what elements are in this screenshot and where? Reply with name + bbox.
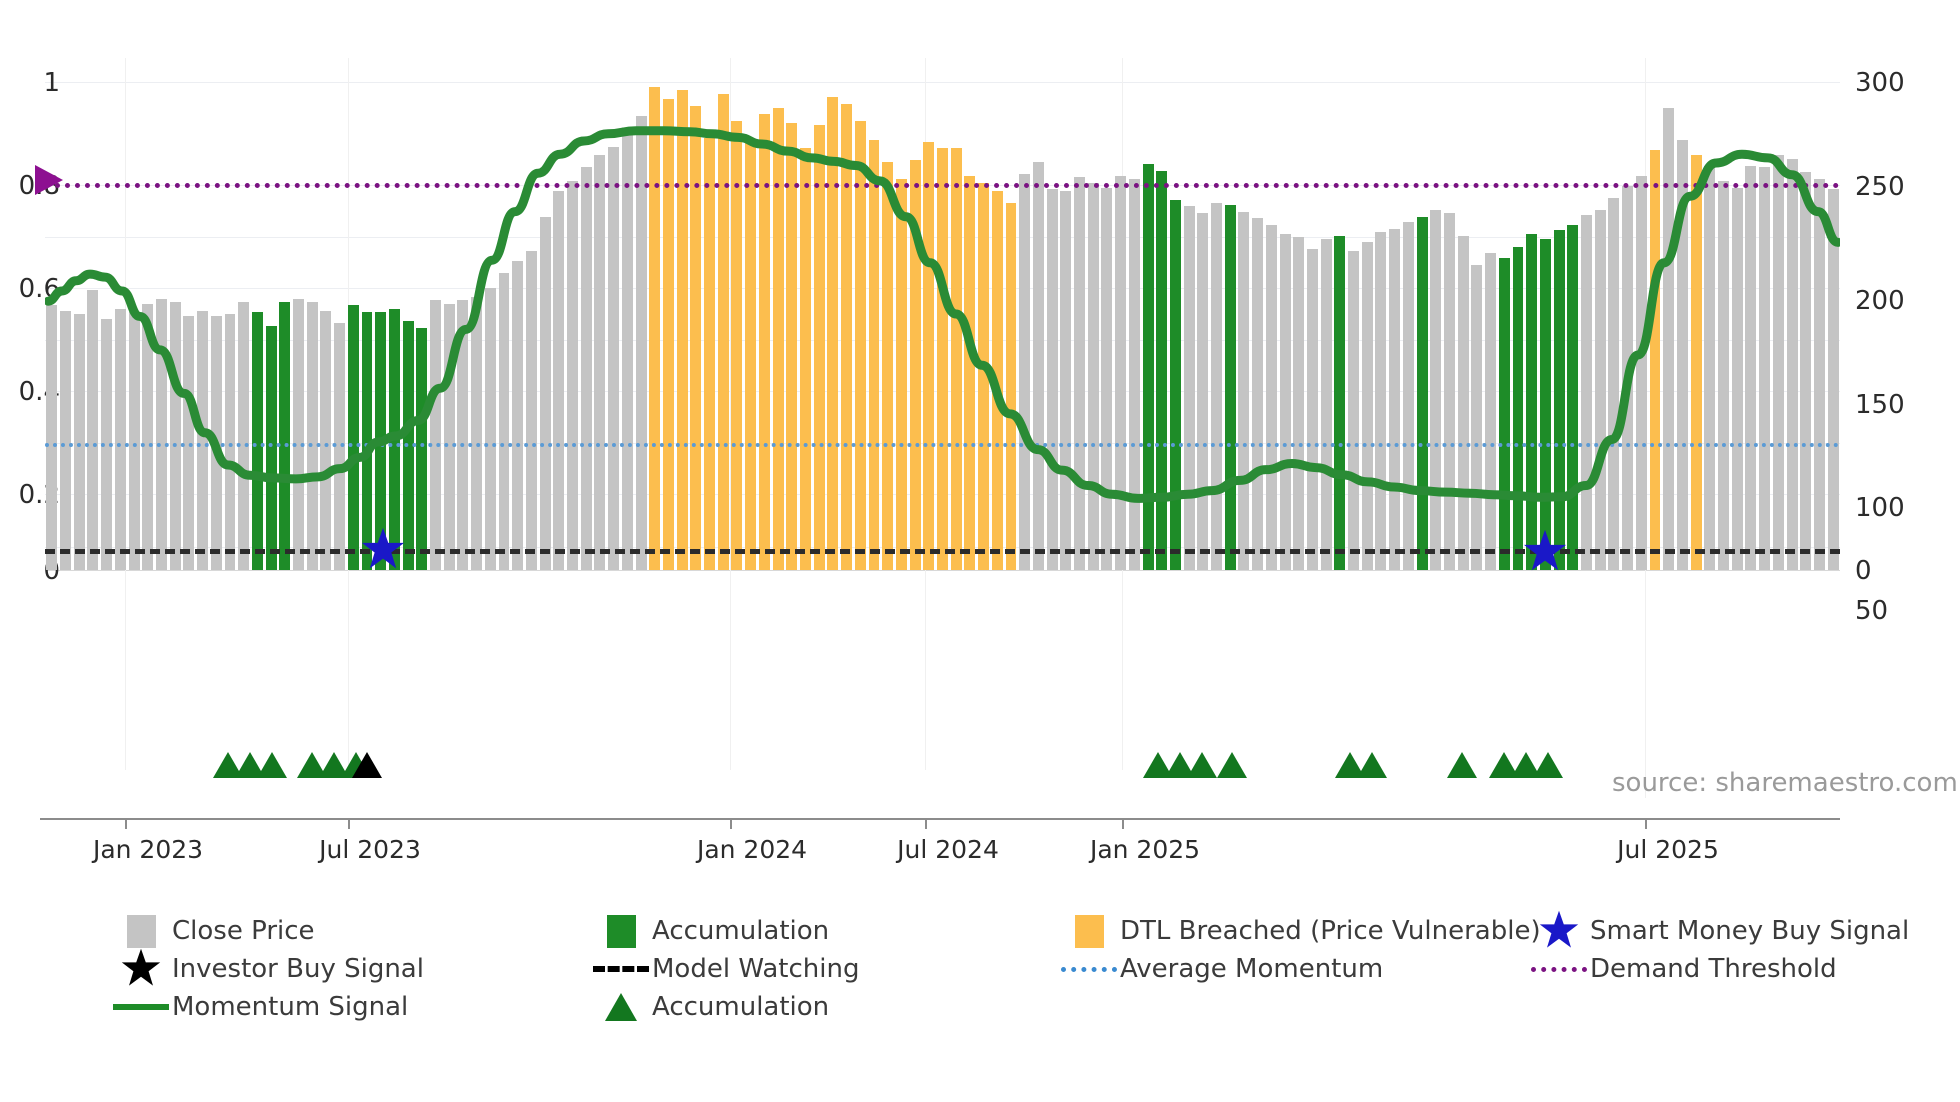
accumulation-triangle-icon	[1447, 752, 1477, 778]
legend-square-icon	[1075, 915, 1104, 948]
x-label-jan2025: Jan 2025	[1090, 835, 1200, 864]
source-note: source: sharemaestro.com	[1612, 768, 1958, 798]
legend-dashed-line-icon	[593, 966, 649, 972]
accumulation-triangle-icon	[1533, 752, 1563, 778]
x-label-jan2024: Jan 2024	[697, 835, 807, 864]
legend-star-icon	[1539, 910, 1579, 952]
legend-item-label: Accumulation	[652, 994, 829, 1020]
legend-item[interactable]: Average Momentum	[1058, 953, 1383, 985]
legend-item[interactable]: Smart Money Buy Signal	[1528, 915, 1909, 947]
legend-item[interactable]: Accumulation	[590, 991, 829, 1023]
legend-star-icon	[121, 948, 161, 990]
legend-item[interactable]: Investor Buy Signal	[110, 953, 424, 985]
x-label-jul2025: Jul 2025	[1617, 835, 1719, 864]
accumulation-triangle-icon	[1187, 752, 1217, 778]
legend-square-icon	[607, 915, 636, 948]
chart-figure: 1 0.8 0.6 0.4 0.2 0 300 250 200 150 100 …	[0, 0, 1960, 1102]
legend-item-label: Model Watching	[652, 956, 859, 982]
x-label-jul2024: Jul 2024	[897, 835, 999, 864]
x-tick-jan2025	[1122, 818, 1124, 829]
x-tick-jan2023	[125, 818, 127, 829]
legend-item[interactable]: Demand Threshold	[1528, 953, 1837, 985]
legend-item[interactable]: Momentum Signal	[110, 991, 408, 1023]
x-axis-line	[40, 818, 1840, 820]
x-tick-jul2023	[348, 818, 350, 829]
x-tick-jan2024	[730, 818, 732, 829]
legend-dotted-line-icon	[1061, 967, 1117, 972]
legend-item[interactable]: Close Price	[110, 915, 315, 947]
legend-triangle-icon	[605, 993, 637, 1021]
investor-buy-signal-triangle-icon	[352, 752, 382, 778]
legend-item[interactable]: Model Watching	[590, 953, 859, 985]
legend-item-label: Demand Threshold	[1590, 956, 1837, 982]
legend-item-label: Accumulation	[652, 918, 829, 944]
legend-item[interactable]: DTL Breached (Price Vulnerable)	[1058, 915, 1541, 947]
legend-item-label: Smart Money Buy Signal	[1590, 918, 1909, 944]
x-label-jul2023: Jul 2023	[319, 835, 421, 864]
demand-threshold-marker-icon	[35, 161, 65, 203]
legend-item-label: Investor Buy Signal	[172, 956, 424, 982]
legend-item-label: Average Momentum	[1120, 956, 1383, 982]
x-tick-jul2025	[1645, 818, 1647, 829]
legend-square-icon	[127, 915, 156, 948]
legend-item-label: Close Price	[172, 918, 315, 944]
legend-item[interactable]: Accumulation	[590, 915, 829, 947]
legend-item-label: DTL Breached (Price Vulnerable)	[1120, 918, 1541, 944]
accumulation-triangle-icon	[257, 752, 287, 778]
accumulation-triangle-icon	[1357, 752, 1387, 778]
accumulation-triangle-icon	[1217, 752, 1247, 778]
chart-legend: Close PriceAccumulationDTL Breached (Pri…	[0, 915, 1960, 1075]
smart-money-buy-star-icon	[1523, 529, 1567, 575]
legend-item-label: Momentum Signal	[172, 994, 408, 1020]
x-label-jan2023: Jan 2023	[93, 835, 203, 864]
smart-money-buy-star-icon	[361, 527, 405, 573]
legend-solid-line-icon	[113, 1004, 169, 1010]
legend-dotted-line-icon	[1531, 967, 1587, 972]
x-tick-jul2024	[925, 818, 927, 829]
